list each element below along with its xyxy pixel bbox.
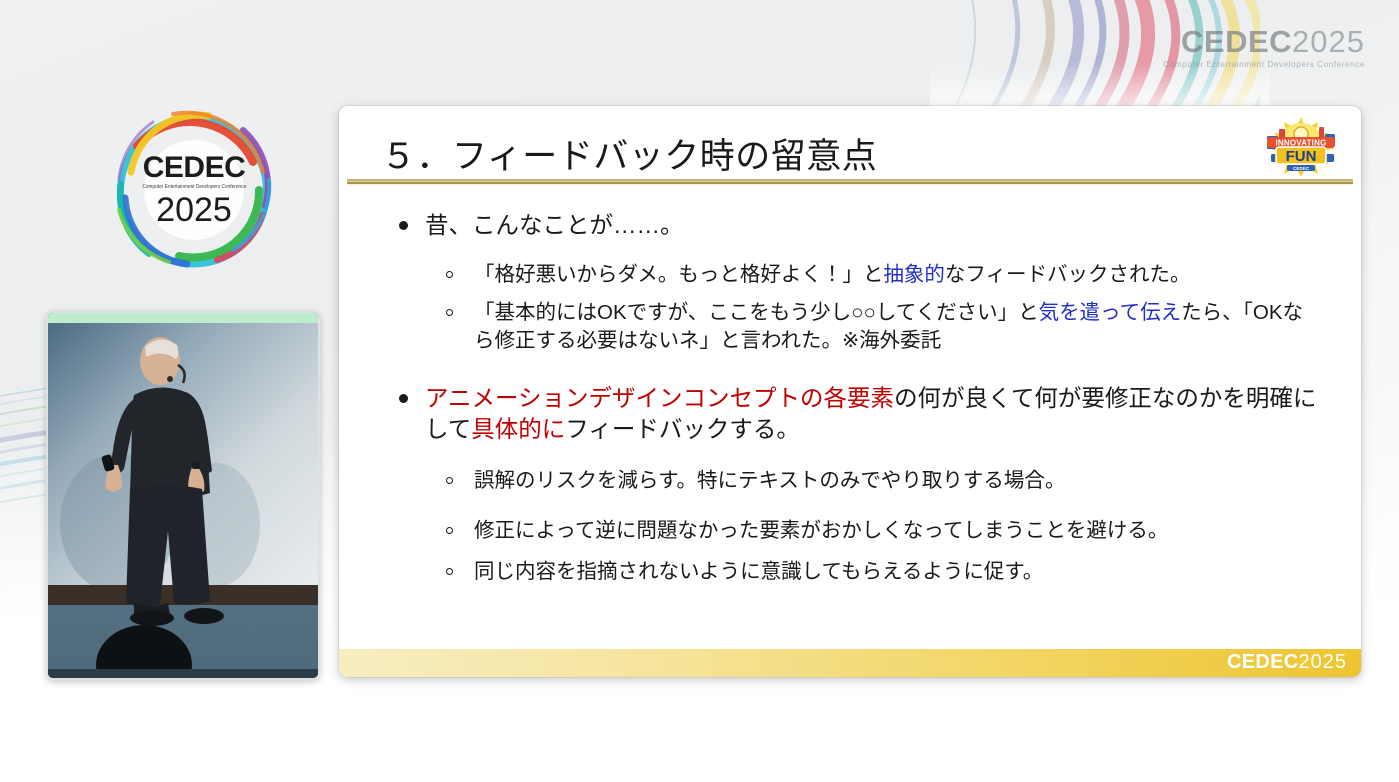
bullet-segment: 修正によって逆に問題なかった要素がおかしくなってしまうことを避ける。: [474, 519, 1168, 542]
title-divider: [347, 179, 1353, 185]
watermark-subtitle: Computer Entertainment Developers Confer…: [1163, 60, 1365, 69]
bullet-abstract-feedback: 「格好悪いからダメ。もっと格好よく！」と抽象的なフィードバックされた。: [391, 261, 1321, 289]
innovating-fun-badge: INNOVATING FUN CEDEC: [1259, 116, 1343, 178]
svg-text:INNOVATING: INNOVATING: [1275, 139, 1326, 148]
speaker-video-frame: [48, 313, 318, 678]
cedec-logo-tagline: Computer Entertainment Developers Confer…: [142, 185, 245, 190]
cedec-logo-year: 2025: [138, 193, 250, 227]
bullet-segment-highlight: アニメーションデザインコンセプトの各要素: [425, 385, 894, 411]
bullet-segment: 昔、こんなことが……。: [425, 212, 684, 238]
bullet-segment-highlight: 気を遣って伝え: [1039, 301, 1181, 324]
bullet-prompt-awareness: 同じ内容を指摘されないように意識してもらえるように促す。: [391, 558, 1321, 586]
footer-brand-year: 2025: [1299, 651, 1348, 673]
bullet-considerate-feedback: 「基本的にはOKですが、ここをもう少し○○してください」と気を遣って伝えたら、「…: [391, 299, 1321, 355]
slide-body: 昔、こんなことが……。 「格好悪いからダメ。もっと格好よく！」と抽象的なフィード…: [391, 210, 1321, 586]
watermark-title-year: 2025: [1292, 24, 1365, 59]
slide-footer-brand: CEDEC2025: [1227, 652, 1347, 672]
bullet-segment-highlight: 抽象的: [883, 263, 945, 286]
bullet-segment-highlight: 具体的に: [471, 416, 565, 442]
bullet-segment: 「基本的にはOKですが、ここをもう少し○○してください」と: [474, 301, 1039, 324]
footer-brand-bold: CEDEC: [1227, 651, 1299, 673]
slide-title: ５．フィードバック時の留意点: [381, 128, 877, 179]
bullet-segment: 「格好悪いからダメ。もっと格好よく！」と: [474, 263, 883, 286]
bullet-concrete-feedback: アニメーションデザインコンセプトの各要素の何が良くて何が要修正なのかを明確にして…: [391, 383, 1321, 446]
cedec-logo-name: CEDEC: [138, 153, 250, 183]
watermark-title: CEDEC2025: [1163, 26, 1365, 57]
bullet-segment: フィードバックする。: [565, 416, 800, 442]
watermark-title-bold: CEDEC: [1181, 24, 1292, 59]
slide-footer: CEDEC2025: [339, 649, 1361, 677]
innovating-fun-icon: INNOVATING FUN CEDEC: [1259, 116, 1343, 178]
bullet-segment: 同じ内容を指摘されないように意識してもらえるように促す。: [474, 560, 1043, 583]
cedec-2025-logo: CEDEC Computer Entertainment Developers …: [113, 110, 275, 270]
svg-text:CEDEC: CEDEC: [1293, 166, 1310, 171]
svg-text:FUN: FUN: [1286, 148, 1317, 165]
bullet-segment: なフィードバックされた。: [945, 263, 1191, 286]
presentation-slide: ５．フィードバック時の留意点: [339, 106, 1361, 677]
cedec-logo-text: CEDEC Computer Entertainment Developers …: [138, 153, 250, 227]
bullet-segment: 誤解のリスクを減らす。特にテキストのみでやり取りする場合。: [474, 469, 1065, 492]
presentation-stage: CEDEC2025 Computer Entertainment Develop…: [0, 0, 1399, 782]
bullet-reduce-misunderstanding: 誤解のリスクを減らす。特にテキストのみでやり取りする場合。: [391, 467, 1321, 495]
bullet-past-experience: 昔、こんなことが……。: [391, 210, 1321, 241]
speaker-video[interactable]: [46, 311, 320, 680]
cedec-watermark-top-right: CEDEC2025 Computer Entertainment Develop…: [1163, 26, 1365, 69]
bullet-avoid-breaking-elements: 修正によって逆に問題なかった要素がおかしくなってしまうことを避ける。: [391, 517, 1321, 545]
